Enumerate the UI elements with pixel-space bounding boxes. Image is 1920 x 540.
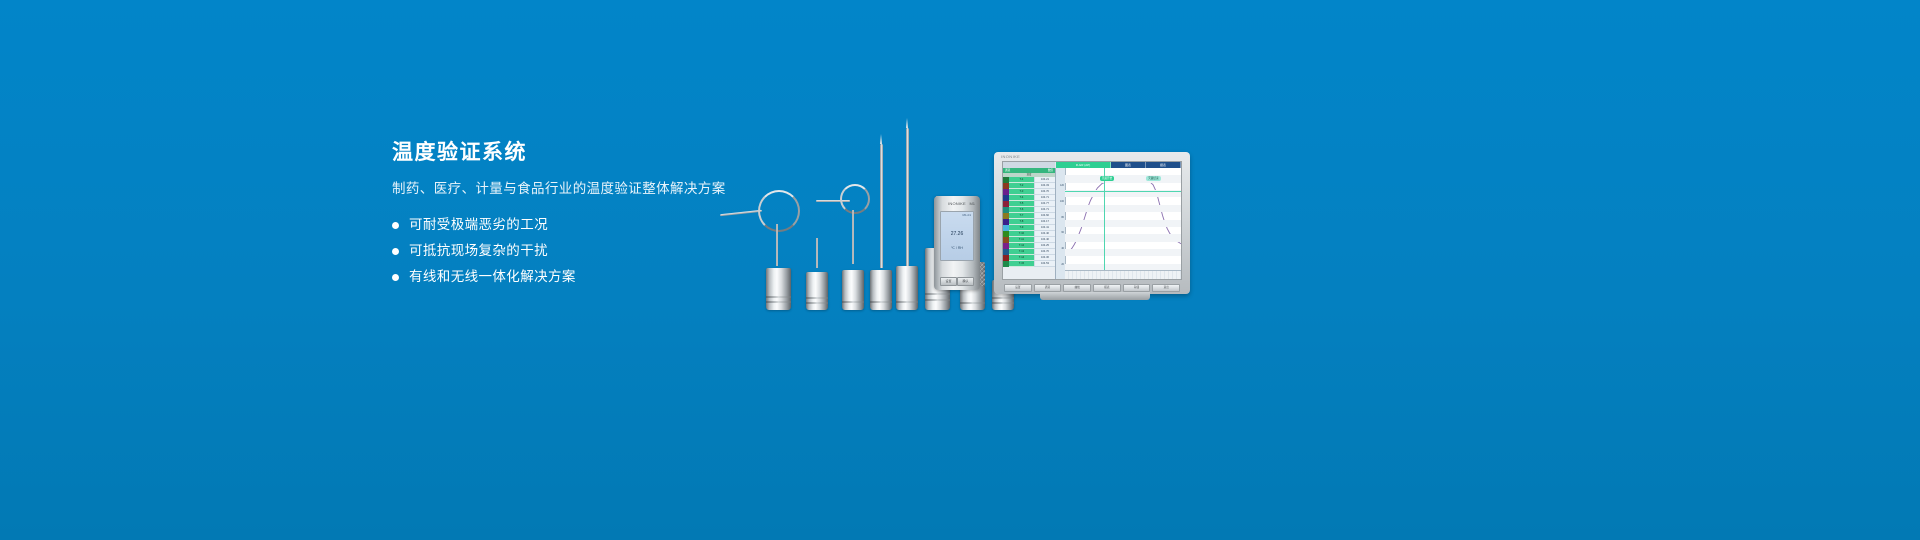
monitor-stand [1040, 292, 1150, 300]
probe-body-5 [896, 266, 918, 310]
handheld-screen: M1-01 27.26 ℃ / RH [940, 211, 974, 261]
monitor-key-exit[interactable]: 退出 [1152, 284, 1180, 292]
chart-grid-band [1065, 256, 1181, 263]
chart-y-tick-label: 60 [1061, 231, 1064, 234]
channel-name-cell: T-15 [1009, 261, 1034, 267]
handheld-key-confirm[interactable]: 确认 [957, 277, 974, 286]
feature-bullet-1-label: 可耐受极端恶劣的工况 [409, 216, 548, 234]
monitor-key-settings[interactable]: 设置 [1004, 284, 1032, 292]
probe-stem [852, 210, 854, 264]
chart-annotation-end[interactable]: 灭菌结束 [1146, 176, 1160, 181]
bullet-dot-icon [392, 222, 399, 229]
chart-y-tick-label: 120 [1060, 184, 1064, 187]
monitor-key-channel[interactable]: 通道 [1034, 284, 1062, 292]
chart-cursor-line [1104, 168, 1105, 271]
probe-needle [880, 144, 883, 268]
chart-grid-band [1065, 168, 1181, 175]
bullet-dot-icon [392, 248, 399, 255]
feature-bullet-2-label: 可抵抗现场复杂的干扰 [409, 242, 548, 260]
handheld-model-label: M1 [969, 201, 975, 206]
chart-grid-band [1065, 183, 1181, 190]
monitor-key-report[interactable]: 报表 [1093, 284, 1121, 292]
software-screen: R-GR (AP) 图表 报表 通道 数值 温度 T-1104.21T-2104… [1002, 161, 1182, 280]
chart-grid-band [1065, 205, 1181, 212]
monitor-button-bar: 设置 通道 曲线 报表 存储 退出 [1004, 284, 1180, 292]
chart-y-tick-label: 40 [1061, 247, 1064, 250]
probe-coil-icon [758, 190, 800, 232]
chart-y-tick-label: 20 [1061, 263, 1064, 266]
software-body: 通道 数值 温度 T-1104.21T-2104.33T-3104.70T-41… [1003, 168, 1181, 279]
chart-panel: 020406080100120 灭菌开始 灭菌结束 [1056, 168, 1181, 279]
probe-stem [776, 224, 778, 266]
chart-grid-band [1065, 212, 1181, 219]
table-row[interactable]: T-15104.53 [1003, 261, 1055, 267]
bullet-dot-icon [392, 274, 399, 281]
probe-wire [720, 210, 762, 216]
probe-body-4 [870, 270, 892, 310]
handheld-screen-status: M1-01 [962, 213, 971, 217]
channel-table[interactable]: 通道 数值 温度 T-1104.21T-2104.33T-3104.70T-41… [1003, 168, 1056, 279]
chart-grid-band [1065, 197, 1181, 204]
chart-grid-band [1065, 249, 1181, 256]
handheld-reading-unit: ℃ / RH [941, 246, 973, 250]
monitor-key-curve[interactable]: 曲线 [1063, 284, 1091, 292]
chart-plot-area: 灭菌开始 灭菌结束 [1065, 168, 1181, 271]
probe-body-1 [766, 268, 791, 310]
chart-y-tick-label: 100 [1060, 200, 1064, 203]
probe-coil-icon [840, 184, 870, 214]
chart-y-tick-label: 0 [1063, 279, 1064, 280]
channel-table-rows: T-1104.21T-2104.33T-3104.70T-4104.71T-51… [1003, 177, 1055, 279]
feature-bullet-3-label: 有线和无线一体化解决方案 [409, 268, 576, 286]
monitor-key-storage[interactable]: 存储 [1123, 284, 1151, 292]
handheld-reading-value: 27.26 [941, 231, 973, 237]
probe-stem [816, 238, 818, 268]
chart-grid-band [1065, 242, 1181, 249]
handheld-reader[interactable]: INONIKE M1 M1-01 27.26 ℃ / RH 设置 确认 [934, 196, 980, 290]
handheld-key-settings[interactable]: 设置 [940, 277, 957, 286]
monitor-display: INONIKE R-GR (AP) 图表 报表 通道 数值 温度 T-1104.… [994, 152, 1190, 294]
chart-grid-band [1065, 234, 1181, 241]
chart-grid-band [1065, 227, 1181, 234]
chart-threshold-line [1065, 191, 1181, 192]
channel-value-cell: 104.53 [1034, 261, 1055, 267]
hero-banner: 温度验证系统 制药、医疗、计量与食品行业的温度验证整体解决方案 可耐受极端恶劣的… [0, 0, 1920, 540]
chart-x-axis [1065, 270, 1181, 279]
chart-grid-band [1065, 175, 1181, 182]
probe-body-3 [842, 270, 864, 310]
chart-y-tick-label: 80 [1061, 216, 1064, 219]
chart-grid-band [1065, 220, 1181, 227]
monitor-brand-label: INONIKE [1001, 154, 1020, 159]
probe-body-2 [806, 272, 828, 310]
probe-needle [906, 128, 909, 268]
chart-annotation-start[interactable]: 灭菌开始 [1100, 176, 1114, 181]
